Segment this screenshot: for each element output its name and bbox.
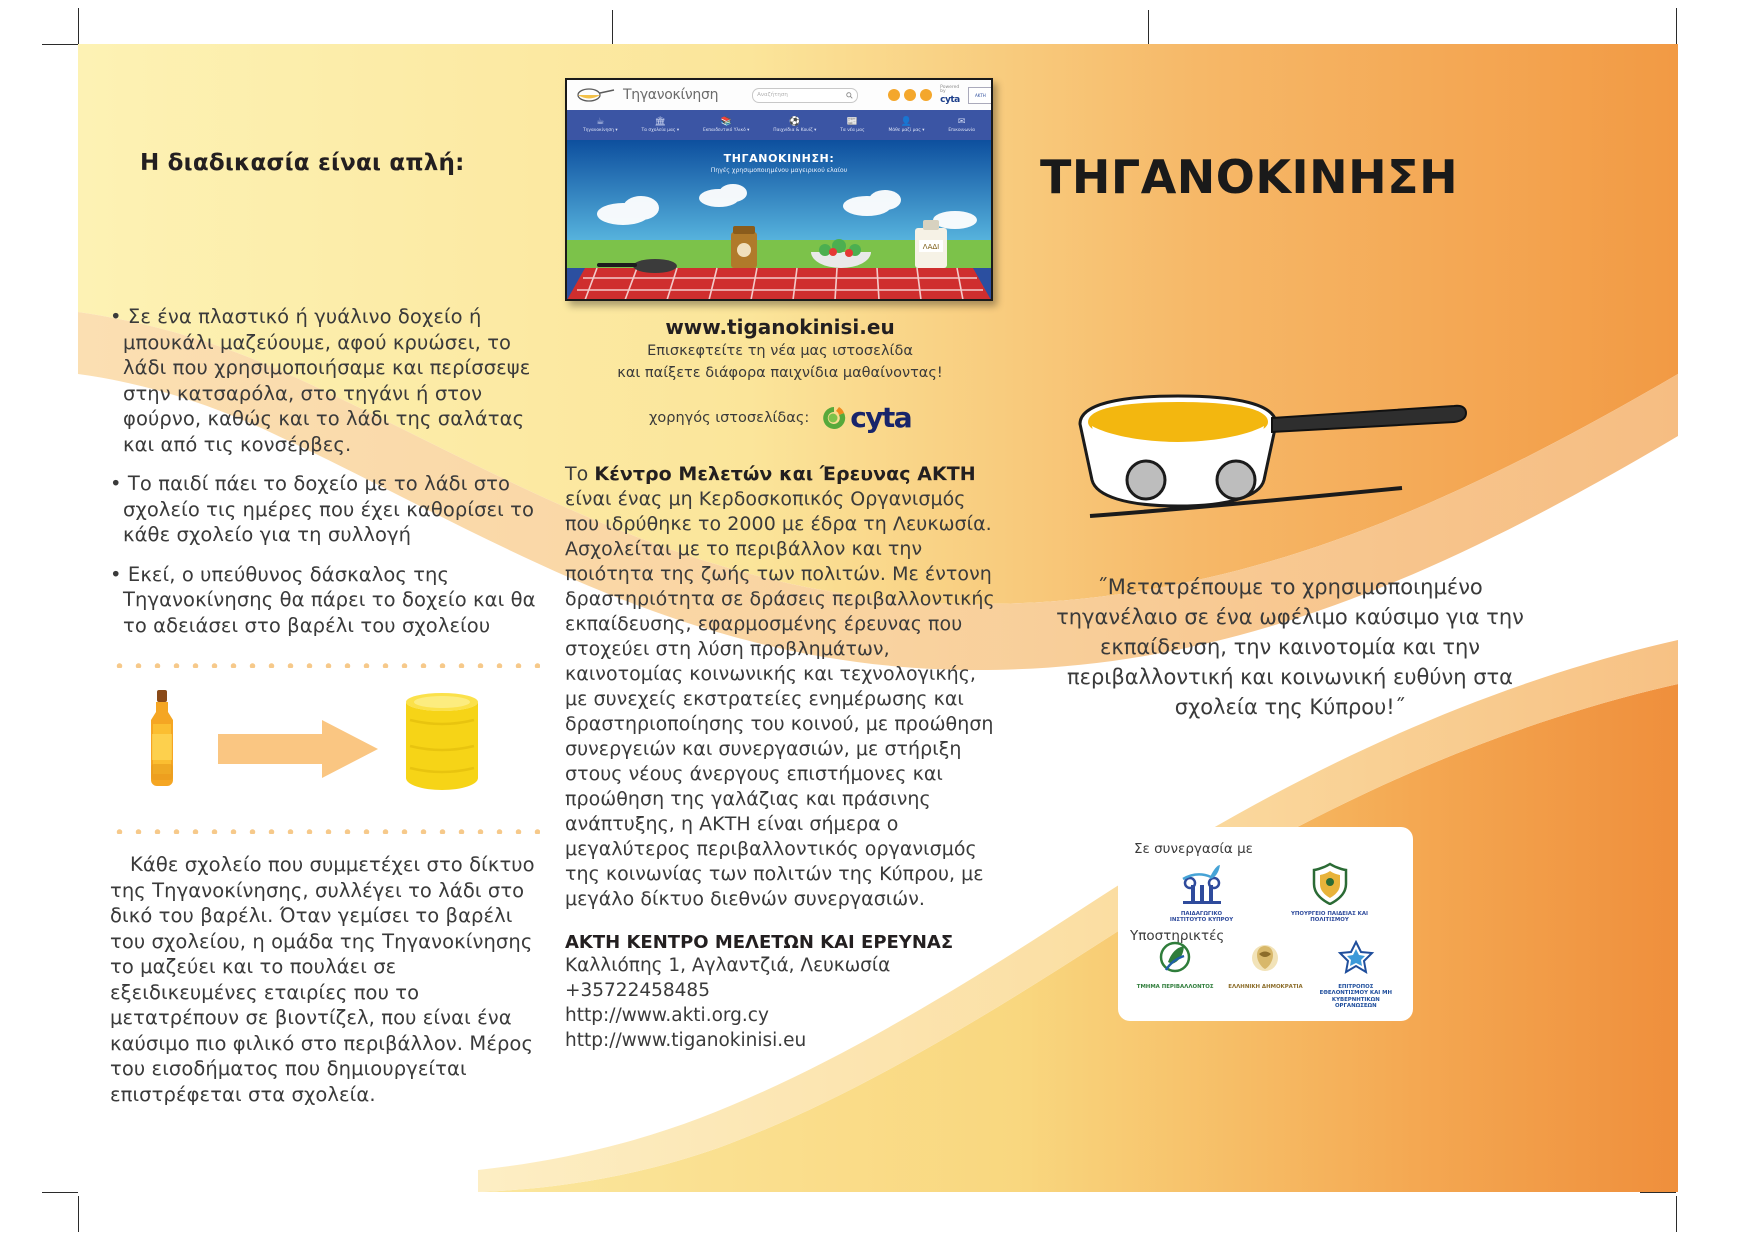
list-item: • Εκεί, ο υπεύθυνος δάσκαλος της Τηγανοκ… bbox=[110, 562, 540, 639]
akti-rest: είναι ένας μη Κερδοσκοπικός Οργανισμός π… bbox=[565, 488, 995, 910]
brochure-title: ΤΗΓΑΝΟΚΙΝΗΣΗ bbox=[1040, 150, 1600, 204]
news-icon: 📰 bbox=[847, 118, 858, 127]
page-title: Η διαδικασία είναι απλή: bbox=[140, 150, 540, 176]
hero-subtitle: Πηγές χρησιμοποιημένου μαγειρικού ελαίου bbox=[567, 167, 991, 174]
website-screenshot[interactable]: Τηγανοκίνηση Αναζήτηση Powered by bbox=[565, 78, 993, 301]
powered-by-label: Powered by bbox=[940, 86, 963, 95]
powered-by-brand: cyta bbox=[940, 95, 963, 105]
process-bullet-list: • Σε ένα πλαστικό ή γυάλινο δοχείο ή μπο… bbox=[110, 304, 540, 638]
contact-phone: +35722458485 bbox=[565, 978, 995, 1003]
partner-logo-hellenic: ΕΛΛΗΝΙΚΗ ΔΗΜΟΚΡΑΤΙΑ bbox=[1226, 940, 1304, 1010]
partner-logos-row-1: ΠΑΙΔΑΓΩΓΙΚΟ ΙΝΣΤΙΤΟΥΤΟ ΚΥΠΡΟΥ ΥΠΟΥΡΓΕΙΟ … bbox=[1118, 861, 1413, 924]
twitter-icon[interactable] bbox=[920, 89, 932, 101]
site-wordmark: Τηγανοκίνηση bbox=[623, 87, 718, 103]
social-icons[interactable] bbox=[888, 89, 932, 101]
nav-item-learn[interactable]: 👤 Μάθε μαζί μας ▾ bbox=[888, 118, 924, 133]
nav-item-tiganokinisi[interactable]: ☕ Τηγανοκίνηση ▾ bbox=[583, 118, 618, 133]
partner-caption: ΠΑΙΔΑΓΩΓΙΚΟ ΙΝΣΤΙΤΟΥΤΟ ΚΥΠΡΟΥ bbox=[1163, 911, 1241, 924]
nav-item-schools[interactable]: 🏛 Τα σχολεία μας ▾ bbox=[641, 118, 679, 133]
akti-lead: Το bbox=[565, 463, 594, 485]
list-item: • Το παιδί πάει το δοχείο με το λάδι στο… bbox=[110, 471, 540, 548]
crop-mark bbox=[1676, 1196, 1677, 1232]
partner-logo-pedagogical-institute: ΠΑΙΔΑΓΩΓΙΚΟ ΙΝΣΤΙΤΟΥΤΟ ΚΥΠΡΟΥ bbox=[1163, 861, 1241, 924]
school-icon: 🏛 bbox=[655, 118, 666, 127]
nav-label: Εκπαιδευτικό Υλικό ▾ bbox=[703, 128, 749, 133]
svg-text:ΛΑΔΙ: ΛΑΔΙ bbox=[923, 243, 939, 251]
site-search-input[interactable]: Αναζήτηση bbox=[752, 88, 858, 103]
pan-icon: ☕ bbox=[596, 118, 604, 127]
oil-bottle-icon bbox=[140, 690, 184, 794]
ministry-of-education-icon bbox=[1308, 861, 1352, 905]
nav-label: Τηγανοκίνηση ▾ bbox=[583, 128, 618, 133]
nav-label: Τα σχολεία μας ▾ bbox=[641, 128, 679, 133]
website-url[interactable]: www.tiganokinisi.eu bbox=[565, 315, 995, 339]
sponsor-label: χορηγός ιστοσελίδας: bbox=[649, 410, 809, 426]
fold-mark bbox=[1148, 10, 1149, 44]
frying-pan-illustration bbox=[1050, 384, 1470, 534]
process-illustration bbox=[110, 684, 540, 804]
crop-mark bbox=[1640, 1192, 1676, 1193]
nav-item-news[interactable]: 📰 Τα νέα μας bbox=[840, 118, 864, 133]
cyta-logo: cyta bbox=[821, 401, 911, 434]
dotted-divider-bottom bbox=[110, 826, 540, 834]
contact-website-akti[interactable]: http://www.akti.org.cy bbox=[565, 1003, 995, 1028]
nav-item-contact[interactable]: ✉ Επικοινωνία bbox=[948, 118, 975, 133]
hero-title: ΤΗΓΑΝΟΚΙΝΗΣΗ: bbox=[567, 152, 991, 165]
pedagogical-institute-icon bbox=[1177, 861, 1227, 905]
akti-badge: ΑΚΤΗ bbox=[968, 87, 993, 104]
partner-caption: ΤΜΗΜΑ ΠΕΡΙΒΑΛΛΟΝΤΟΣ bbox=[1136, 984, 1214, 990]
search-icon bbox=[846, 92, 853, 99]
cooperation-label: Σε συνεργασία με bbox=[1134, 841, 1413, 857]
mission-quote: ˝Μετατρέπουμε το χρησιμοποιημένο τηγανέλ… bbox=[1040, 572, 1540, 722]
website-caption-line1: Επισκεφτείτε τη νέα μας ιστοσελίδα bbox=[565, 342, 995, 361]
crop-mark bbox=[78, 1196, 79, 1232]
fold-mark bbox=[612, 10, 613, 44]
nav-label: Μάθε μαζί μας ▾ bbox=[888, 128, 924, 133]
cyprus-pedagogical-academy-icon bbox=[1245, 940, 1285, 978]
sponsor-row: χορηγός ιστοσελίδας: cyta bbox=[565, 401, 995, 434]
partner-logo-ngo-committee: ΕΠΙΤΡΟΠΟΣ ΕΘΕΛΟΝΤΙΣΜΟΥ ΚΑΙ ΜΗ ΚΥΒΕΡΝΗΤΙΚ… bbox=[1317, 940, 1395, 1010]
partner-caption: ΥΠΟΥΡΓΕΙΟ ΠΑΙΔΕΙΑΣ ΚΑΙ ΠΟΛΙΤΙΣΜΟΥ bbox=[1291, 911, 1369, 924]
contact-website-tiganokinisi[interactable]: http://www.tiganokinisi.eu bbox=[565, 1028, 995, 1053]
rss-icon[interactable] bbox=[888, 89, 900, 101]
crop-mark bbox=[1676, 8, 1677, 44]
facebook-icon[interactable] bbox=[904, 89, 916, 101]
nav-label: Παιχνίδια & Κουίζ ▾ bbox=[773, 128, 816, 133]
pan-logo-icon bbox=[575, 86, 615, 104]
cyta-wordmark: cyta bbox=[850, 401, 911, 434]
partner-logo-environment: ΤΜΗΜΑ ΠΕΡΙΒΑΛΛΟΝΤΟΣ bbox=[1136, 940, 1214, 1010]
books-icon: 📚 bbox=[721, 118, 732, 127]
partners-card: Σε συνεργασία με ΠΑΙΔΑΓΩΓΙΚΟ ΙΝΣΤΙΤΟΥΤΟ … bbox=[1118, 827, 1413, 1021]
school-network-paragraph: Κάθε σχολείο που συμμετέχει στο δίκτυο τ… bbox=[110, 852, 540, 1107]
dotted-divider-top bbox=[110, 660, 540, 668]
learn-icon: 👤 bbox=[901, 118, 912, 127]
brochure-page: Η διαδικασία είναι απλή: • Σε ένα πλαστι… bbox=[0, 0, 1754, 1240]
middle-column: Τηγανοκίνηση Αναζήτηση Powered by bbox=[565, 78, 995, 1053]
partner-logo-ministry-education: ΥΠΟΥΡΓΕΙΟ ΠΑΙΔΕΙΑΣ ΚΑΙ ΠΟΛΙΤΙΣΜΟΥ bbox=[1291, 861, 1369, 924]
left-column: Η διαδικασία είναι απλή: • Σε ένα πλαστι… bbox=[110, 150, 540, 1107]
nav-item-material[interactable]: 📚 Εκπαιδευτικό Υλικό ▾ bbox=[703, 118, 749, 133]
crop-mark bbox=[42, 44, 78, 45]
contact-heading: ΑΚΤΗ ΚΕΝΤΡΟ ΜΕΛΕΤΩΝ ΚΑΙ ΕΡΕΥΝΑΣ bbox=[565, 932, 995, 953]
site-topbar: Τηγανοκίνηση Αναζήτηση Powered by bbox=[567, 80, 991, 110]
powered-by-block: Powered by cyta ΑΚΤΗ bbox=[940, 86, 993, 105]
site-navigation[interactable]: ☕ Τηγανοκίνηση ▾ 🏛 Τα σχολεία μας ▾ 📚 Εκ… bbox=[567, 110, 991, 140]
arrow-right-icon bbox=[218, 720, 378, 778]
game-icon: ⚽ bbox=[789, 118, 800, 127]
mail-icon: ✉ bbox=[958, 118, 966, 127]
ngo-committee-icon bbox=[1336, 940, 1376, 978]
environment-department-icon bbox=[1155, 940, 1195, 978]
akti-description: Το Κέντρο Μελετών και Έρευνας ΑΚΤΗ είναι… bbox=[565, 462, 995, 912]
list-item: • Σε ένα πλαστικό ή γυάλινο δοχείο ή μπο… bbox=[110, 304, 540, 457]
yellow-barrel-icon bbox=[400, 690, 484, 794]
cyta-swirl-icon bbox=[821, 405, 847, 431]
crop-mark bbox=[78, 8, 79, 44]
website-caption-line2: και παίξετε διάφορα παιχνίδια μαθαίνοντα… bbox=[565, 364, 995, 383]
akti-name: Κέντρο Μελετών και Έρευνας ΑΚΤΗ bbox=[594, 463, 975, 485]
partner-caption: ΕΛΛΗΝΙΚΗ ΔΗΜΟΚΡΑΤΙΑ bbox=[1226, 984, 1304, 990]
nav-item-games[interactable]: ⚽ Παιχνίδια & Κουίζ ▾ bbox=[773, 118, 816, 133]
crop-mark bbox=[42, 1192, 78, 1193]
partner-caption: ΕΠΙΤΡΟΠΟΣ ΕΘΕΛΟΝΤΙΣΜΟΥ ΚΑΙ ΜΗ ΚΥΒΕΡΝΗΤΙΚ… bbox=[1317, 984, 1395, 1010]
nav-label: Τα νέα μας bbox=[840, 128, 864, 133]
hero-text-block: ΤΗΓΑΝΟΚΙΝΗΣΗ: Πηγές χρησιμοποιημένου μαγ… bbox=[567, 152, 991, 174]
search-placeholder: Αναζήτηση bbox=[757, 92, 788, 98]
contact-address: Καλλιόπης 1, Αγλαντζιά, Λευκωσία bbox=[565, 953, 995, 978]
partner-logos-row-2: ΤΜΗΜΑ ΠΕΡΙΒΑΛΛΟΝΤΟΣ ΕΛΛΗΝΙΚΗ ΔΗΜΟΚΡΑΤΙΑ … bbox=[1118, 940, 1413, 1010]
nav-label: Επικοινωνία bbox=[948, 128, 975, 133]
right-column: ΤΗΓΑΝΟΚΙΝΗΣΗ ˝Μετατρέπουμε το χρησιμοποι… bbox=[1040, 150, 1600, 743]
site-hero-banner: ΛΑΔΙ ΤΗΓΑΝΟΚΙΝΗΣΗ: Πηγές χρησιμοποιημένο… bbox=[567, 140, 991, 299]
